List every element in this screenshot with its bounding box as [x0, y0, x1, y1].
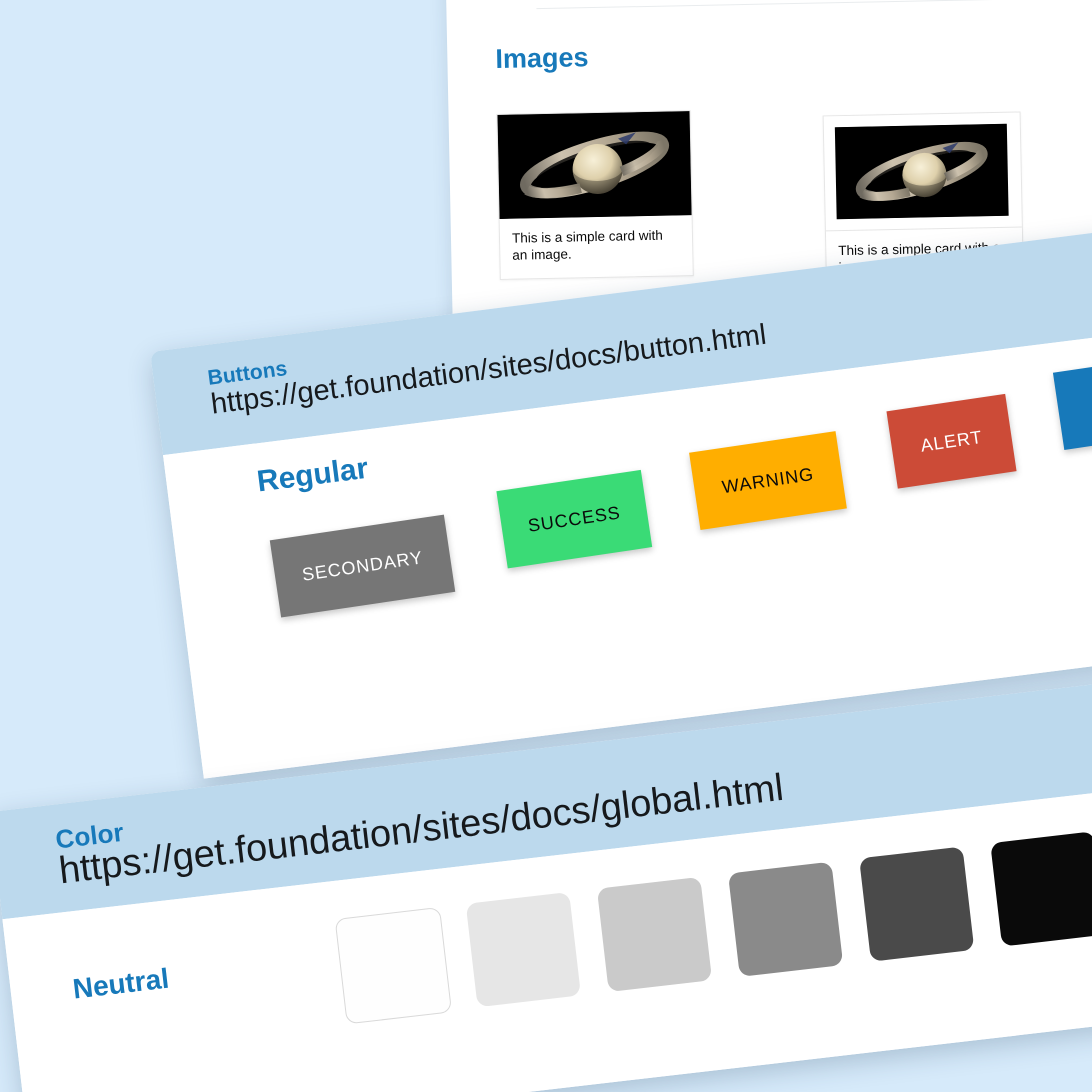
top-divider [536, 0, 1092, 9]
primary-button[interactable]: PRIMARY [1053, 348, 1092, 450]
saturn-image [498, 111, 692, 219]
color-swatch[interactable] [859, 846, 974, 961]
color-panel: Color https://get.foundation/sites/docs/… [0, 676, 1092, 1092]
secondary-button[interactable]: SECONDARY [270, 515, 456, 618]
screenshot-stage: Images [0, 0, 1092, 1092]
regular-section-heading: Regular [255, 452, 370, 500]
color-swatch[interactable] [466, 892, 581, 1007]
buttons-panel: Buttons https://get.foundation/sites/doc… [150, 225, 1092, 778]
color-swatch[interactable] [728, 862, 843, 977]
color-swatch[interactable] [990, 831, 1092, 946]
color-swatch[interactable] [335, 907, 452, 1024]
images-section-heading: Images [495, 42, 589, 75]
image-card-text: This is a simple card with an image. [500, 215, 693, 278]
success-button[interactable]: SUCCESS [496, 470, 652, 568]
warning-button[interactable]: WARNING [689, 431, 847, 530]
image-card[interactable]: This is a simple card with an image. [497, 110, 694, 279]
color-swatch[interactable] [597, 877, 712, 992]
alert-button[interactable]: ALERT [886, 394, 1016, 489]
neutral-section-heading: Neutral [71, 963, 171, 1006]
saturn-image [835, 124, 1009, 219]
card-section-image-wrap [824, 113, 1022, 231]
